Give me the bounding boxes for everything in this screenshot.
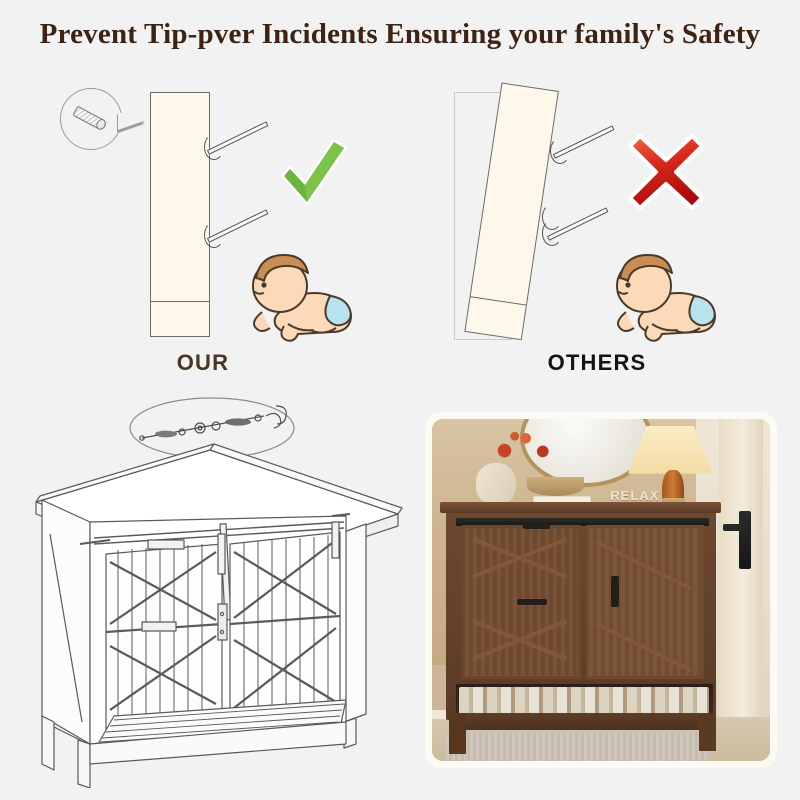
comparison-panel-good: OUR [8, 72, 398, 382]
cabinet-upright [150, 92, 210, 337]
door-handle-left-top[interactable] [523, 523, 550, 529]
anchor-screw-icon [72, 106, 107, 132]
entryway-shoe-cabinet-photo: RELAX [425, 412, 777, 768]
door-handle-right[interactable] [611, 576, 618, 607]
cabinet-kick-panel [465, 296, 526, 339]
panel-label-bad: OTHERS [402, 350, 792, 376]
callout-tail [118, 112, 144, 130]
cabinet-kick-panel [151, 301, 209, 336]
cabinet-leg-right [699, 713, 716, 751]
infographic-page: Prevent Tip-pver Incidents Ensuring your… [0, 0, 800, 800]
cabinet-leg-left [449, 713, 466, 754]
maple-leaf-branch [479, 426, 564, 467]
panel-label-good: OUR [8, 350, 398, 376]
entry-door [719, 419, 763, 727]
decorative-bowl [527, 477, 584, 496]
door-handle-left-bottom[interactable] [517, 599, 547, 605]
ceramic-vase [476, 463, 517, 504]
page-title: Prevent Tip-pver Incidents Ensuring your… [0, 18, 800, 51]
crawling-baby-icon [608, 252, 720, 344]
comparison-panel-bad: OTHERS [402, 72, 792, 382]
cabinet-line-drawing [14, 392, 410, 788]
green-check-icon [272, 134, 352, 216]
area-rug [446, 732, 710, 761]
crawling-baby-icon [244, 252, 356, 344]
red-cross-icon [624, 128, 708, 212]
cabinet-top [440, 502, 721, 513]
cabinet-plinth [449, 713, 716, 730]
anchor-screw-callout [60, 88, 122, 150]
door-lock-icon [739, 511, 751, 569]
shoes-icon [459, 687, 709, 713]
